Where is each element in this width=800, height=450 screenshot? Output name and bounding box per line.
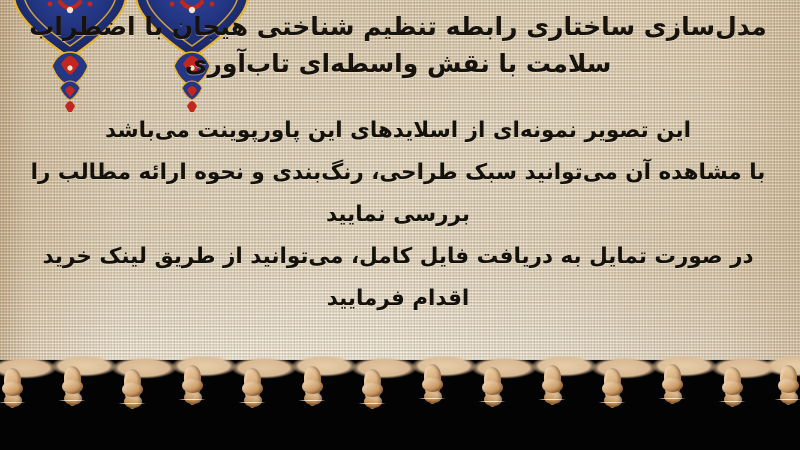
fringe-tassel [356,369,390,449]
slide-body-line-3: در صورت تمایل به دریافت فایل کامل، می‌تو… [16,236,780,320]
presentation-slide: مدل‌سازی ساختاری رابطه تنظیم شناختی هیجا… [0,0,800,450]
fringe-tassel [476,367,510,447]
fringe-tassel [0,368,30,448]
slide-body: این تصویر نمونه‌ای از اسلایدهای این پاور… [16,110,780,320]
fringe-tassel [56,366,90,446]
fringe-tassel [236,368,270,448]
fringe-tassel [296,366,330,446]
slide-title: مدل‌سازی ساختاری رابطه تنظیم شناختی هیجا… [18,8,778,82]
fringe-tassel [116,369,150,449]
slide-body-line-1: این تصویر نمونه‌ای از اسلایدهای این پاور… [16,110,780,152]
fringe-tassel [596,368,630,448]
slide-body-line-2: با مشاهده آن می‌توانید سبک طراحی، رنگ‌بن… [16,152,780,236]
slide-title-line-1: مدل‌سازی ساختاری رابطه تنظیم شناختی هیجا… [29,12,766,41]
slide-title-line-2: سلامت با نقش واسطه‌ای تاب‌آوری [18,45,778,82]
slide-text-layer: مدل‌سازی ساختاری رابطه تنظیم شناختی هیجا… [0,0,800,378]
fringe-tassel [716,367,750,447]
